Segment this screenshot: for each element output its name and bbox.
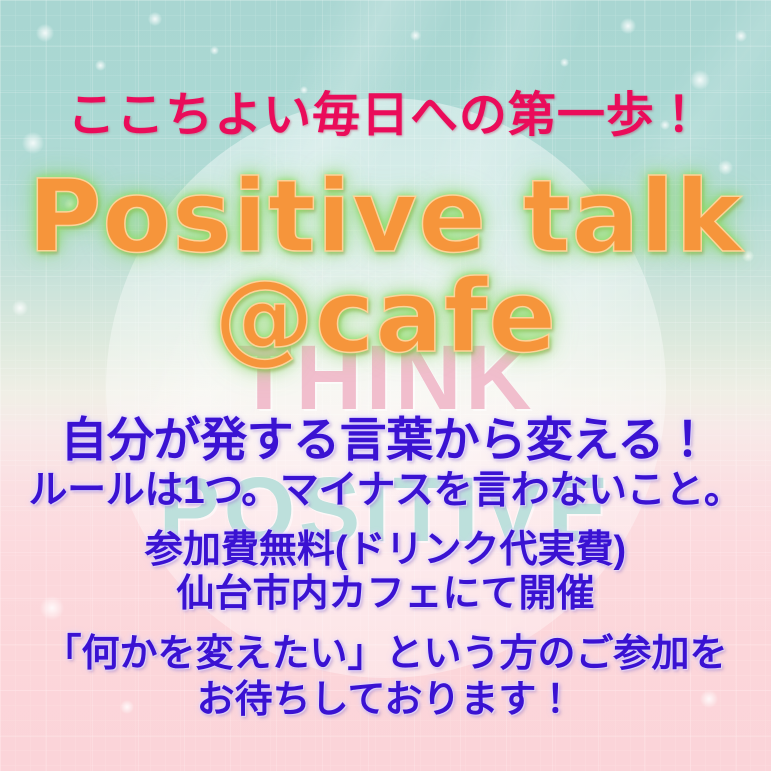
bokeh-sparkle: [95, 60, 106, 71]
bokeh-sparkle: [620, 18, 636, 34]
body-line-closing: お待ちしております！: [0, 668, 771, 723]
title-sub-text: @cafe: [0, 258, 771, 375]
bokeh-sparkle: [148, 12, 162, 26]
poster-canvas: THINK POSITIVE ここちよい毎日への第一歩！ Positive ta…: [0, 0, 771, 771]
bokeh-sparkle: [36, 24, 54, 42]
bokeh-sparkle: [410, 30, 421, 41]
bokeh-sparkle: [210, 46, 219, 55]
bokeh-sparkle: [735, 30, 747, 42]
body-line-venue: 仙台市内カフェにて開催: [0, 562, 771, 617]
bokeh-sparkle: [560, 58, 569, 67]
tagline-text: ここちよい毎日への第一歩！: [0, 75, 771, 145]
body-line-rule: ルールは1つ。マイナスを言わないこと。: [0, 459, 771, 515]
